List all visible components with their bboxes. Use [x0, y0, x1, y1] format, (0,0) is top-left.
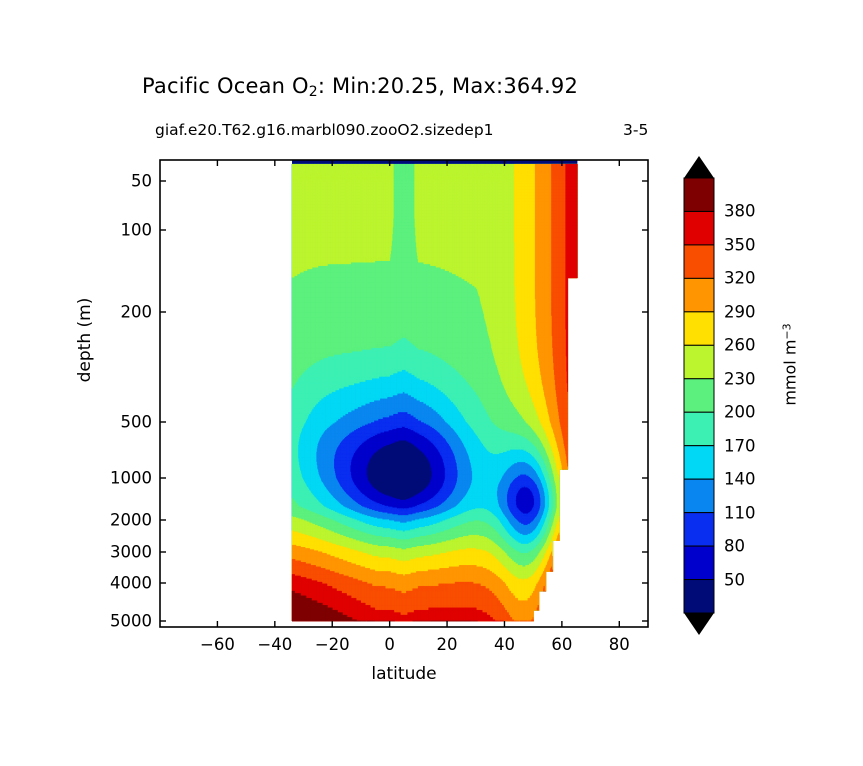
colorbar-tick-label: 320 — [724, 269, 756, 288]
case-name-label: giaf.e20.T62.g16.marbl090.zooO2.sizedep1 — [155, 121, 494, 139]
colorbar-band — [684, 546, 714, 579]
contour-field — [292, 160, 577, 621]
title-text-stats: : Min:20.25, Max:364.92 — [318, 74, 578, 98]
colorbar-extend-min-arrow — [684, 613, 714, 635]
figure-canvas: Pacific Ocean O2: Min:20.25, Max:364.92 … — [0, 0, 863, 766]
y-tick-label: 100 — [90, 221, 152, 240]
colorbar-tick-label: 350 — [724, 235, 756, 254]
y-axis-label: depth (m) — [75, 250, 95, 430]
y-tick-label: 1000 — [90, 469, 152, 488]
y-tick-label: 3000 — [90, 543, 152, 562]
colorbar-band — [684, 479, 714, 512]
x-tick-label: 20 — [437, 635, 458, 654]
colorbar-tick-label: 80 — [724, 537, 745, 556]
colorbar-band — [684, 278, 714, 311]
colorbar-band — [684, 178, 714, 211]
y-tick-label: 5000 — [90, 612, 152, 631]
colorbar-tick-label: 170 — [724, 436, 756, 455]
colorbar-band — [684, 580, 714, 613]
colorbar-tick-label: 50 — [724, 570, 745, 589]
x-tick-label: −60 — [200, 635, 235, 654]
colorbar-band — [684, 446, 714, 479]
x-tick-label: 0 — [384, 635, 395, 654]
x-tick-label: −20 — [315, 635, 350, 654]
x-tick-label: 80 — [609, 635, 630, 654]
colorbar[interactable] — [684, 156, 714, 635]
colorbar-tick-label: 380 — [724, 202, 756, 221]
colorbar-tick-label: 200 — [724, 403, 756, 422]
colorbar-band — [684, 312, 714, 345]
colorbar-tick-label: 290 — [724, 302, 756, 321]
colorbar-tick-label: 140 — [724, 470, 756, 489]
colorbar-band — [684, 513, 714, 546]
x-tick-label: 60 — [551, 635, 572, 654]
colorbar-band — [684, 379, 714, 412]
title-text-prefix: Pacific Ocean O — [142, 74, 309, 98]
y-tick-label: 500 — [90, 413, 152, 432]
colorbar-units-label: mmol m−3 — [781, 275, 800, 455]
x-axis-label: latitude — [160, 664, 648, 684]
colorbar-band — [684, 412, 714, 445]
colorbar-band — [684, 245, 714, 278]
y-tick-label: 200 — [90, 303, 152, 322]
x-tick-label: −40 — [257, 635, 292, 654]
y-tick-label: 50 — [90, 172, 152, 191]
colorbar-extend-max-arrow — [684, 156, 714, 178]
x-tick-label: 40 — [494, 635, 515, 654]
chart-title: Pacific Ocean O2: Min:20.25, Max:364.92 — [0, 74, 720, 100]
colorbar-band — [684, 345, 714, 378]
colorbar-band — [684, 211, 714, 244]
title-subscript: 2 — [309, 84, 318, 100]
colorbar-units-base: mmol m — [781, 340, 800, 406]
colorbar-tick-label: 110 — [724, 503, 756, 522]
colorbar-units-exponent: −3 — [781, 323, 794, 339]
colorbar-tick-label: 260 — [724, 336, 756, 355]
y-tick-label: 2000 — [90, 511, 152, 530]
y-tick-label: 4000 — [90, 574, 152, 593]
season-label: 3-5 — [623, 121, 648, 139]
colorbar-tick-label: 230 — [724, 369, 756, 388]
